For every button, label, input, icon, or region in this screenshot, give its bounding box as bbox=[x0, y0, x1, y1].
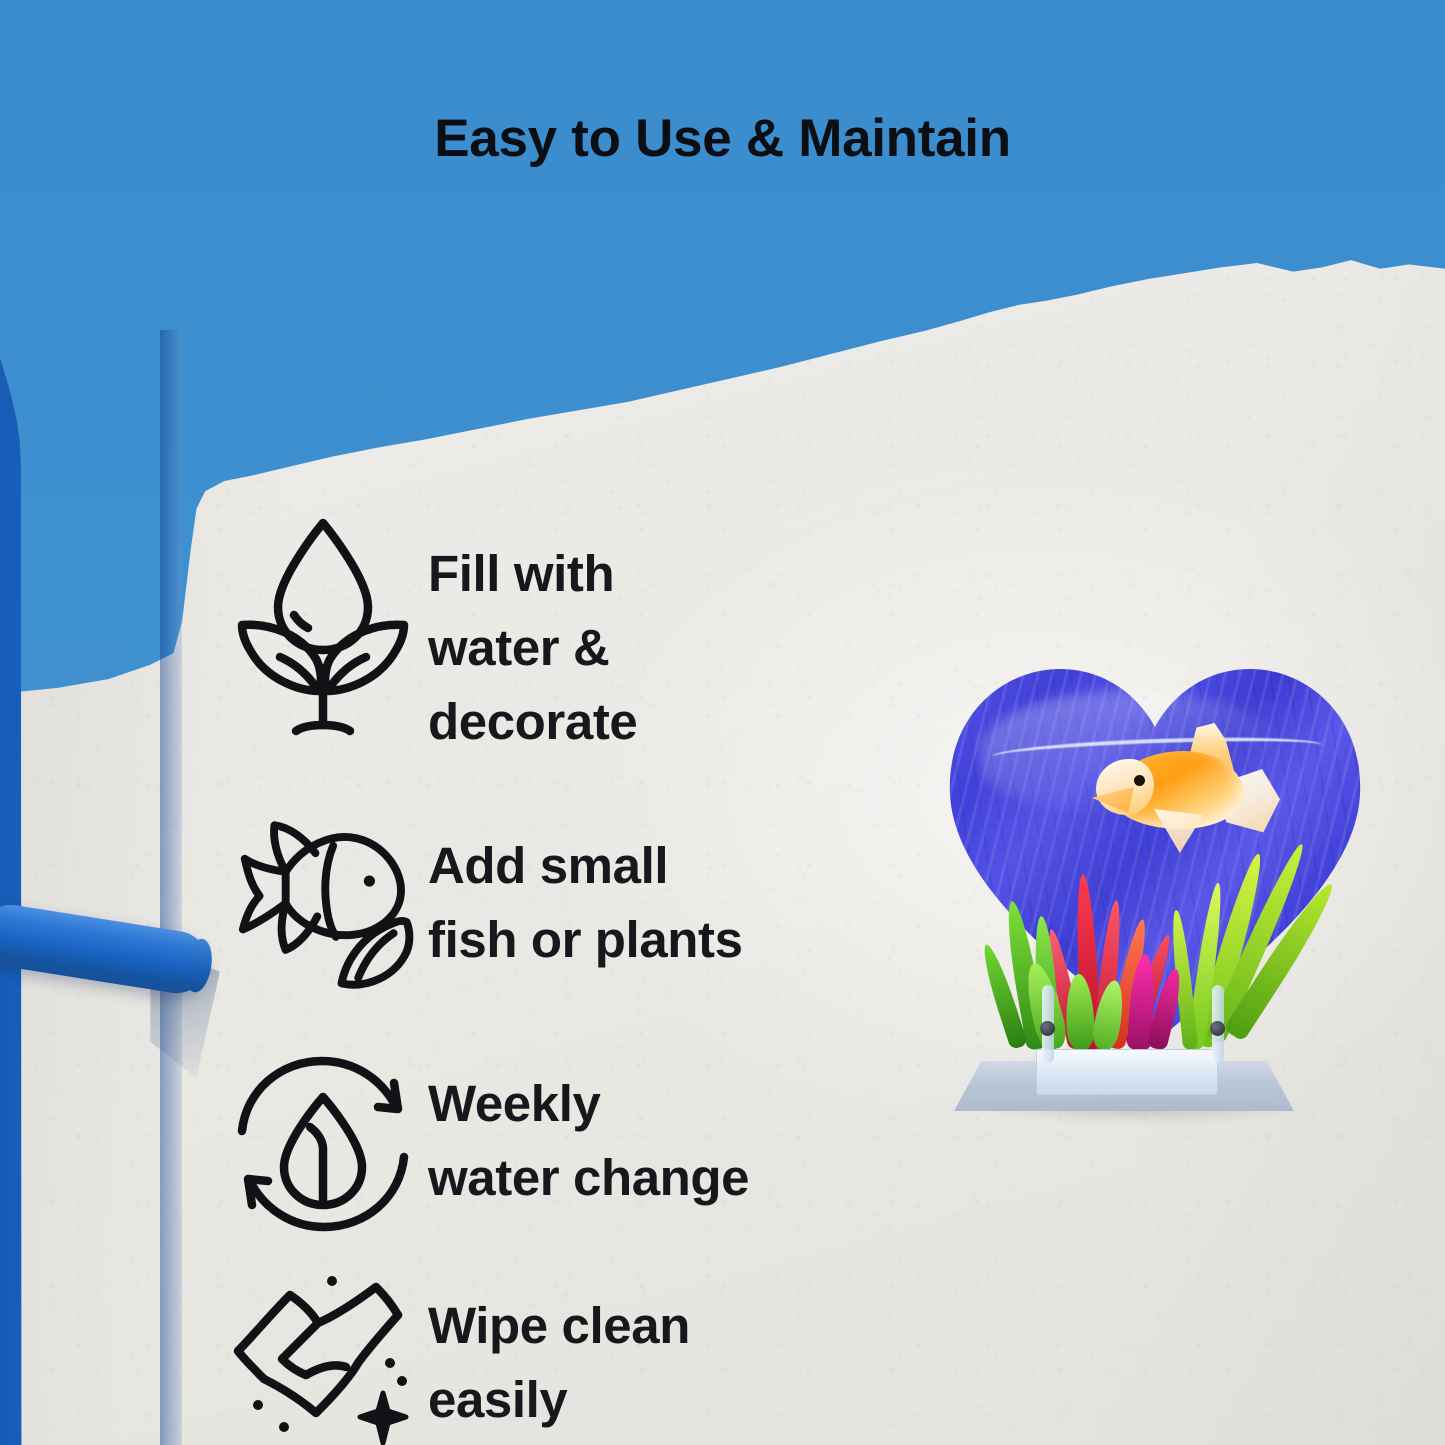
feature-row-weekly-water-change: Weekly water change bbox=[228, 1043, 908, 1265]
feature-label-fill-with-water: Fill with water & decorate bbox=[428, 505, 908, 759]
feature-line: Fill with bbox=[428, 537, 908, 611]
bowl-stand bbox=[930, 985, 1380, 1135]
page-title: Easy to Use & Maintain bbox=[0, 108, 1445, 169]
feature-label-weekly-water-change: Weekly water change bbox=[428, 1043, 908, 1215]
wipe-cloth-sparkle-icon bbox=[228, 1265, 428, 1445]
feature-line: fish or plants bbox=[428, 903, 908, 977]
feature-line: Add small bbox=[428, 829, 908, 903]
feature-row-wipe-clean: Wipe clean easily bbox=[228, 1265, 908, 1445]
feature-line: water change bbox=[428, 1141, 908, 1215]
feature-line: Weekly bbox=[428, 1067, 908, 1141]
product-infographic: Easy to Use & Maintain Fill with water bbox=[0, 0, 1445, 1445]
stand-pivot-knob-left bbox=[1040, 1021, 1055, 1036]
feature-line: Wipe clean bbox=[428, 1289, 908, 1363]
fish-leaf-icon bbox=[228, 805, 428, 1006]
feature-line: easily bbox=[428, 1363, 908, 1437]
product-image-heart-fish-bowl bbox=[930, 655, 1380, 1135]
water-drop-plant-icon bbox=[228, 505, 428, 741]
stand-pivot-knob-right bbox=[1210, 1021, 1225, 1036]
recycle-leaf-icon bbox=[228, 1043, 428, 1239]
feature-row-add-fish-plants: Add small fish or plants bbox=[228, 805, 908, 1043]
feature-line: decorate bbox=[428, 685, 908, 759]
feature-row-fill-with-water: Fill with water & decorate bbox=[228, 505, 908, 805]
feature-line: water & bbox=[428, 611, 908, 685]
stand-center-block bbox=[1036, 1049, 1218, 1095]
feature-label-wipe-clean: Wipe clean easily bbox=[428, 1265, 908, 1437]
feature-label-add-fish-plants: Add small fish or plants bbox=[428, 805, 908, 977]
feature-list: Fill with water & decorate bbox=[228, 505, 908, 1445]
fish-eye bbox=[1134, 775, 1145, 786]
blue-wall-edge bbox=[160, 330, 182, 1445]
